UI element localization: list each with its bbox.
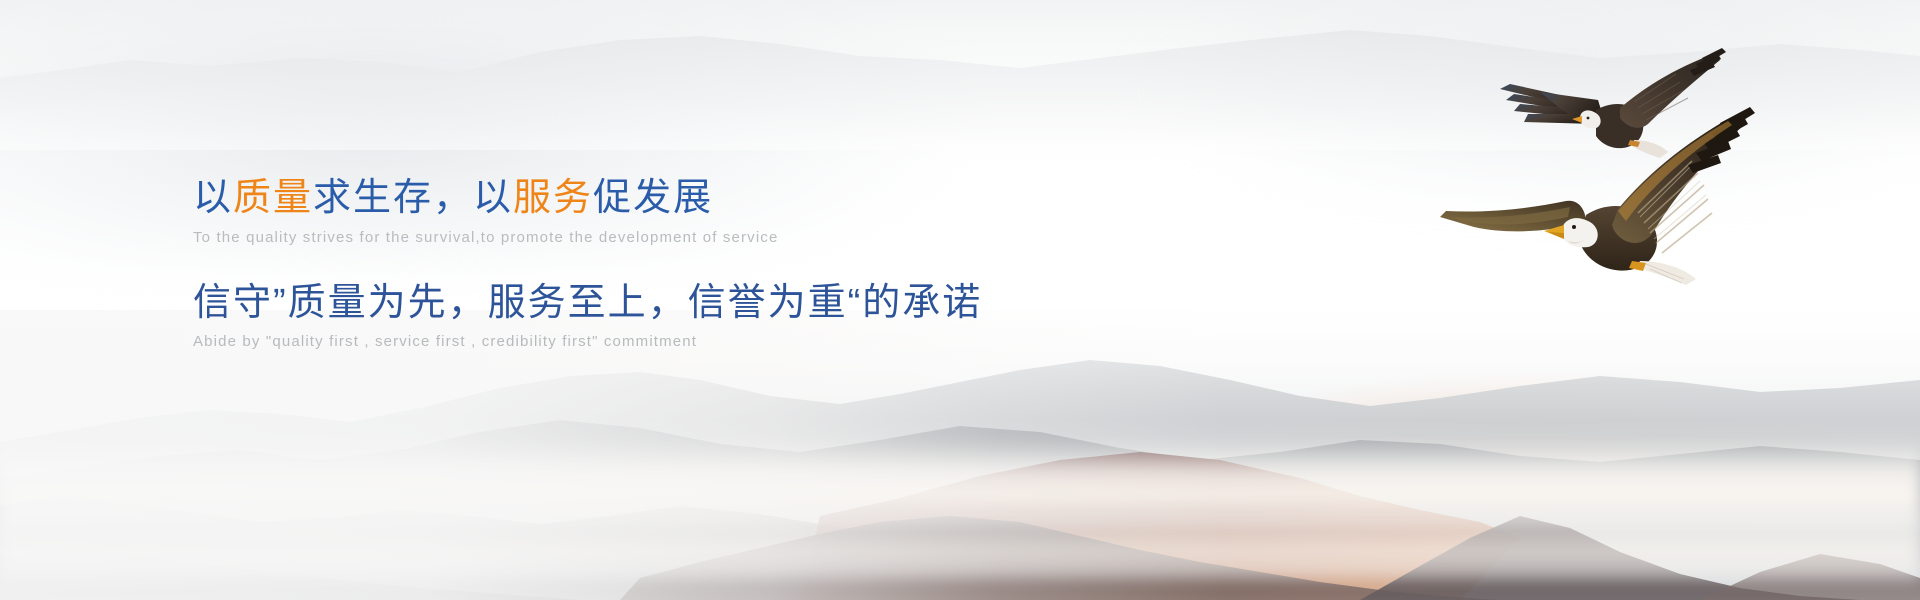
mountain-scene — [0, 310, 1920, 600]
eagle-group — [1300, 0, 1920, 300]
slogan-line-2-english: Abide by "quality first , service first … — [193, 333, 1293, 350]
hero-banner: 以质量求生存，以服务促发展 To the quality strives for… — [0, 0, 1920, 600]
slogan-line1-accent-quality: 质量 — [233, 177, 313, 219]
slogan-line1-accent-service: 服务 — [513, 177, 593, 219]
slogan-line-1-english: To the quality strives for the survival,… — [193, 229, 1293, 246]
bottom-fade — [0, 530, 1920, 600]
slogan-line-1: 以质量求生存，以服务促发展 — [193, 175, 1293, 223]
slogan-line-2: 信守”质量为先，服务至上，信誉为重“的承诺 — [193, 280, 1293, 328]
slogan-line1-suffix: 促发展 — [593, 177, 713, 219]
slogan-block: 以质量求生存，以服务促发展 To the quality strives for… — [193, 175, 1293, 350]
slogan-line1-middle: 求生存，以 — [313, 177, 513, 219]
bald-eagle-large-icon — [1400, 105, 1760, 285]
slogan-line1-prefix: 以 — [193, 177, 233, 219]
